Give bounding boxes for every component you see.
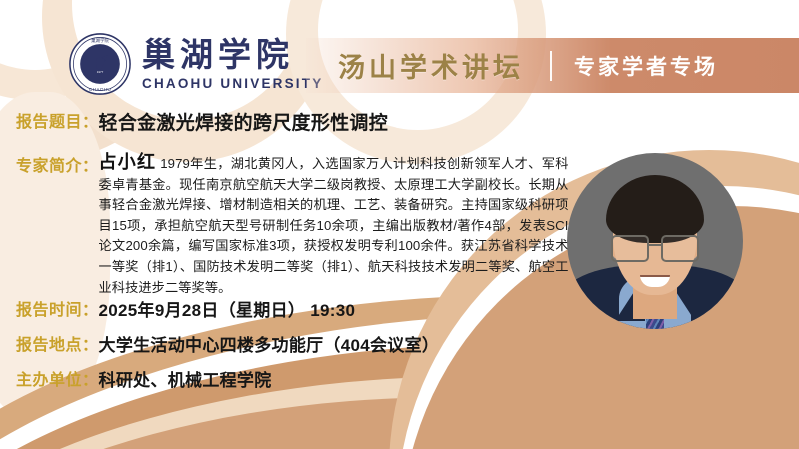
poster-canvas: CHAOHU 巢湖学院 1977 巢湖学院 CHAOHU UNIVERSITY … [0, 0, 799, 449]
row-speaker-bio: 专家简介： 占小红 1979年生，湖北黄冈人，入选国家万人计划科技创新领军人才、… [16, 152, 576, 298]
value-report-time: 2025年9月28日（星期日） 19:30 [99, 296, 356, 321]
row-organizer: 主办单位： 科研处、机械工程学院 [16, 366, 272, 391]
label-report-place: 报告地点： [16, 331, 99, 355]
speaker-bio-body: 1979年生，湖北黄冈人，入选国家万人计划科技创新领军人才、军科委卓青基金。现任… [99, 156, 569, 295]
row-report-time: 报告时间： 2025年9月28日（星期日） 19:30 [16, 296, 355, 321]
row-report-place: 报告地点： 大学生活动中心四楼多功能厅（404会议室） [16, 331, 439, 356]
label-report-time: 报告时间： [16, 296, 99, 320]
value-report-title: 轻合金激光焊接的跨尺度形性调控 [99, 108, 389, 135]
speaker-bio-text: 占小红 1979年生，湖北黄冈人，入选国家万人计划科技创新领军人才、军科委卓青基… [99, 152, 569, 298]
portrait-hair [606, 175, 704, 243]
speaker-name: 占小红 [99, 152, 157, 172]
label-report-title: 报告题目： [16, 108, 99, 132]
value-organizer: 科研处、机械工程学院 [99, 366, 272, 391]
portrait-lens-right [661, 235, 699, 262]
label-speaker-bio: 专家简介： [16, 152, 99, 176]
speaker-portrait [567, 153, 743, 329]
row-report-title: 报告题目： 轻合金激光焊接的跨尺度形性调控 [16, 108, 388, 135]
portrait-lens-left [611, 235, 649, 262]
label-organizer: 主办单位： [16, 366, 99, 390]
portrait-glasses [609, 235, 701, 259]
value-report-place: 大学生活动中心四楼多功能厅（404会议室） [99, 331, 440, 356]
